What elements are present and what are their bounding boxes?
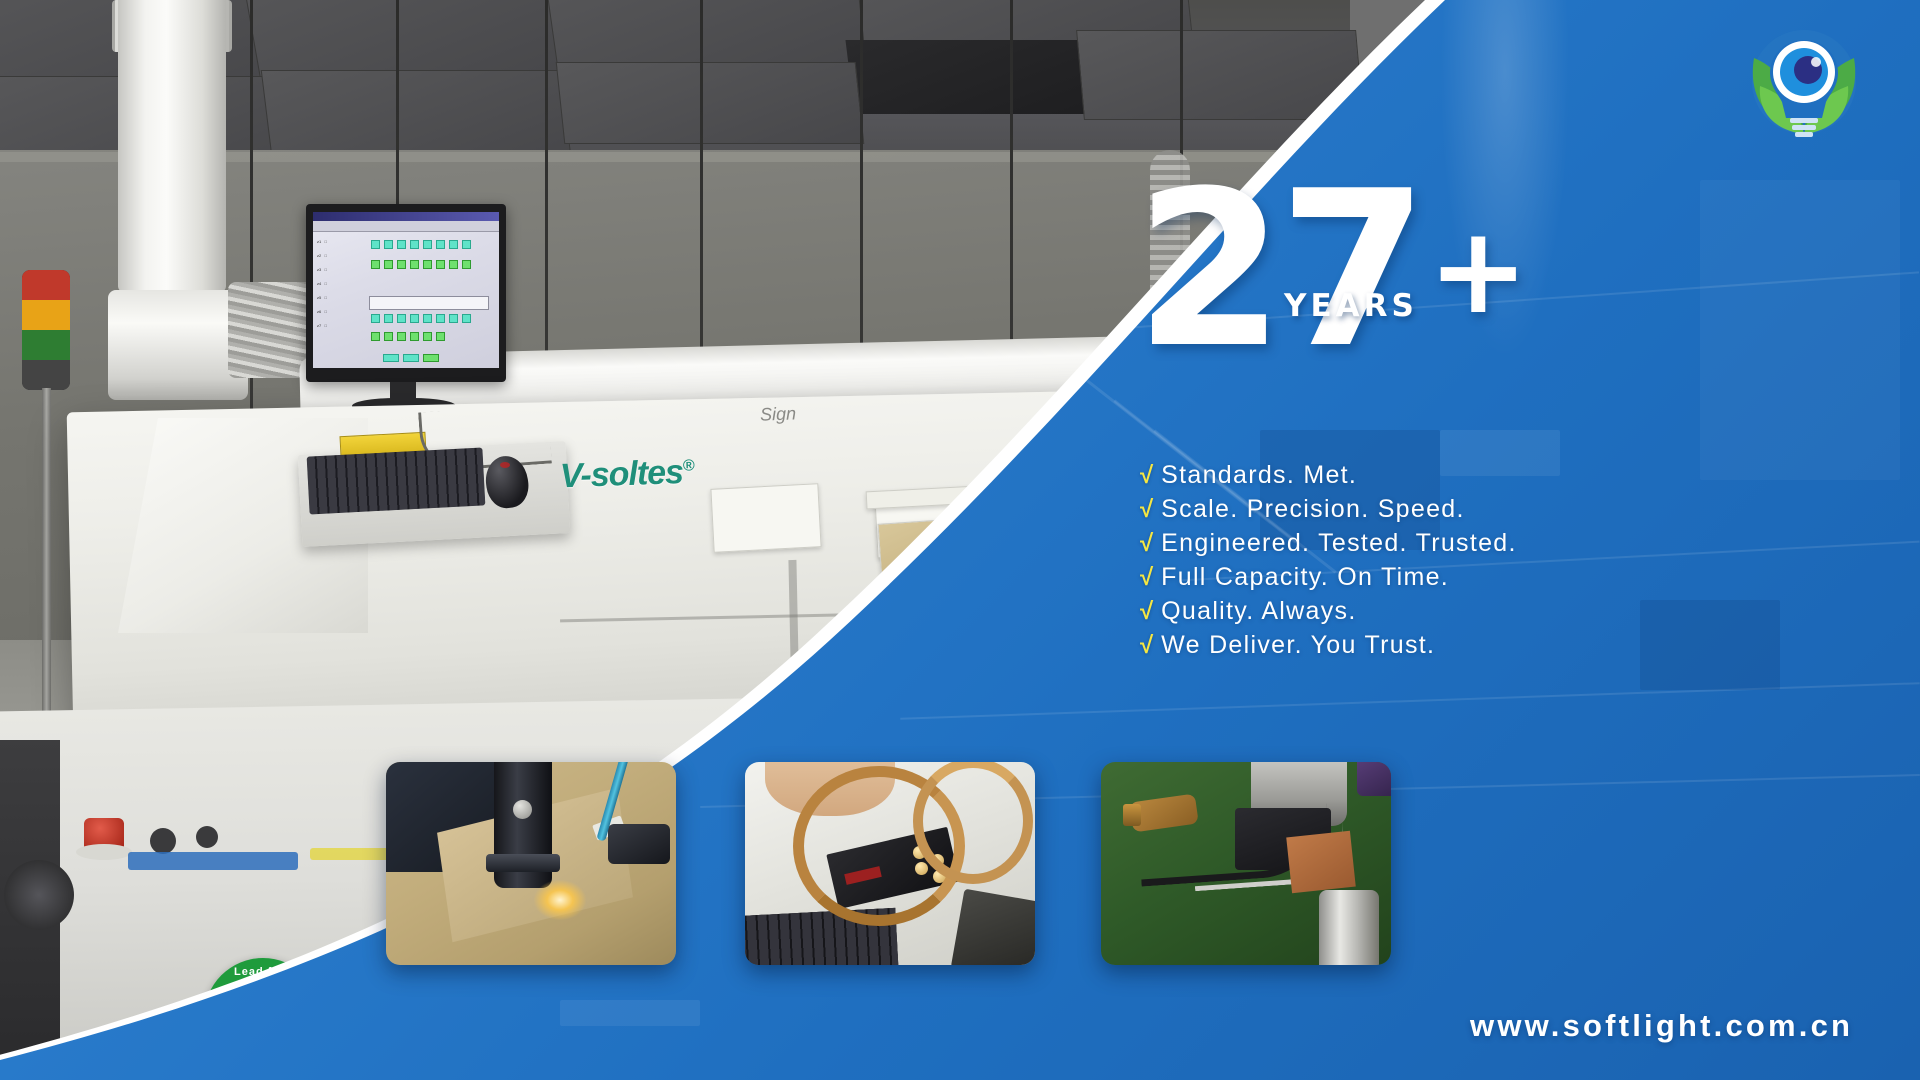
check-icon: √ bbox=[1140, 566, 1153, 590]
years-headline: 27 YEARS bbox=[1135, 180, 1615, 360]
software-titlebar bbox=[313, 212, 499, 221]
document-signature: Sign bbox=[760, 403, 797, 425]
list-item: √ We Deliver. You Trust. bbox=[1140, 632, 1660, 659]
ghost-detail bbox=[560, 1000, 700, 1026]
list-item: √ Standards. Met. bbox=[1140, 462, 1660, 489]
list-item-label: Standards. Met. bbox=[1161, 462, 1357, 489]
control-panel-strip bbox=[128, 852, 298, 870]
check-icon: √ bbox=[1140, 634, 1153, 658]
list-item-label: We Deliver. You Trust. bbox=[1161, 632, 1435, 659]
years-plus-sign: + bbox=[1428, 222, 1529, 322]
list-item: √ Scale. Precision. Speed. bbox=[1140, 496, 1660, 523]
wall-divider bbox=[250, 0, 253, 470]
promo-banner: z1 □ z2 □ z3 □ z4 □ z5 □ z6 □ z7 □ bbox=[0, 0, 1920, 1080]
software-toolbar bbox=[313, 221, 499, 232]
exhaust-duct-vertical bbox=[118, 0, 226, 292]
stack-light-pole bbox=[42, 388, 51, 718]
company-logo[interactable] bbox=[1738, 24, 1870, 146]
emergency-stop-ring bbox=[76, 844, 132, 860]
control-knob[interactable] bbox=[150, 828, 176, 854]
control-knob[interactable] bbox=[196, 826, 218, 848]
thumbnail-copper-coil-assembly[interactable] bbox=[745, 762, 1035, 965]
ceiling-tile bbox=[240, 0, 570, 78]
mouse-led bbox=[500, 462, 510, 468]
thumbnail-welding-electrode[interactable] bbox=[1101, 762, 1391, 965]
monitor-screen: z1 □ z2 □ z3 □ z4 □ z5 □ z6 □ z7 □ bbox=[313, 212, 499, 368]
list-item: √ Full Capacity. On Time. bbox=[1140, 564, 1660, 591]
ceiling-vent bbox=[845, 40, 1104, 114]
list-item-label: Full Capacity. On Time. bbox=[1161, 564, 1449, 591]
list-item: √ Quality. Always. bbox=[1140, 598, 1660, 625]
ceiling-tile bbox=[543, 0, 878, 68]
list-item-label: Quality. Always. bbox=[1161, 598, 1356, 625]
thumbnail-laser-soldering[interactable] bbox=[386, 762, 676, 965]
ghost-detail bbox=[1640, 600, 1780, 690]
list-item-label: Scale. Precision. Speed. bbox=[1161, 496, 1465, 523]
check-icon: √ bbox=[1140, 532, 1153, 556]
stack-light bbox=[22, 270, 70, 390]
years-number: 27 bbox=[1135, 180, 1422, 360]
conveyor-belt-graphic bbox=[369, 296, 489, 310]
years-label: YEARS bbox=[1284, 288, 1418, 324]
exhaust-duct-elbow bbox=[108, 290, 248, 400]
machine-brand-label: V-soltes® bbox=[559, 453, 694, 497]
website-url[interactable]: www.softlight.com.cn bbox=[1470, 1008, 1853, 1044]
check-icon: √ bbox=[1140, 464, 1153, 488]
ceiling-tile bbox=[556, 62, 865, 144]
machine-wheel bbox=[4, 860, 74, 930]
benefits-list: √ Standards. Met. √ Scale. Precision. Sp… bbox=[1140, 462, 1660, 666]
list-item: √ Engineered. Tested. Trusted. bbox=[1140, 530, 1660, 557]
check-icon: √ bbox=[1140, 498, 1153, 522]
control-monitor: z1 □ z2 □ z3 □ z4 □ z5 □ z6 □ z7 □ bbox=[306, 204, 506, 382]
ceiling-tile bbox=[261, 70, 572, 156]
keyboard[interactable] bbox=[307, 447, 486, 514]
list-item-label: Engineered. Tested. Trusted. bbox=[1161, 530, 1517, 557]
ghost-detail bbox=[1700, 180, 1900, 480]
check-icon: √ bbox=[1140, 600, 1153, 624]
paper-document bbox=[710, 483, 821, 553]
